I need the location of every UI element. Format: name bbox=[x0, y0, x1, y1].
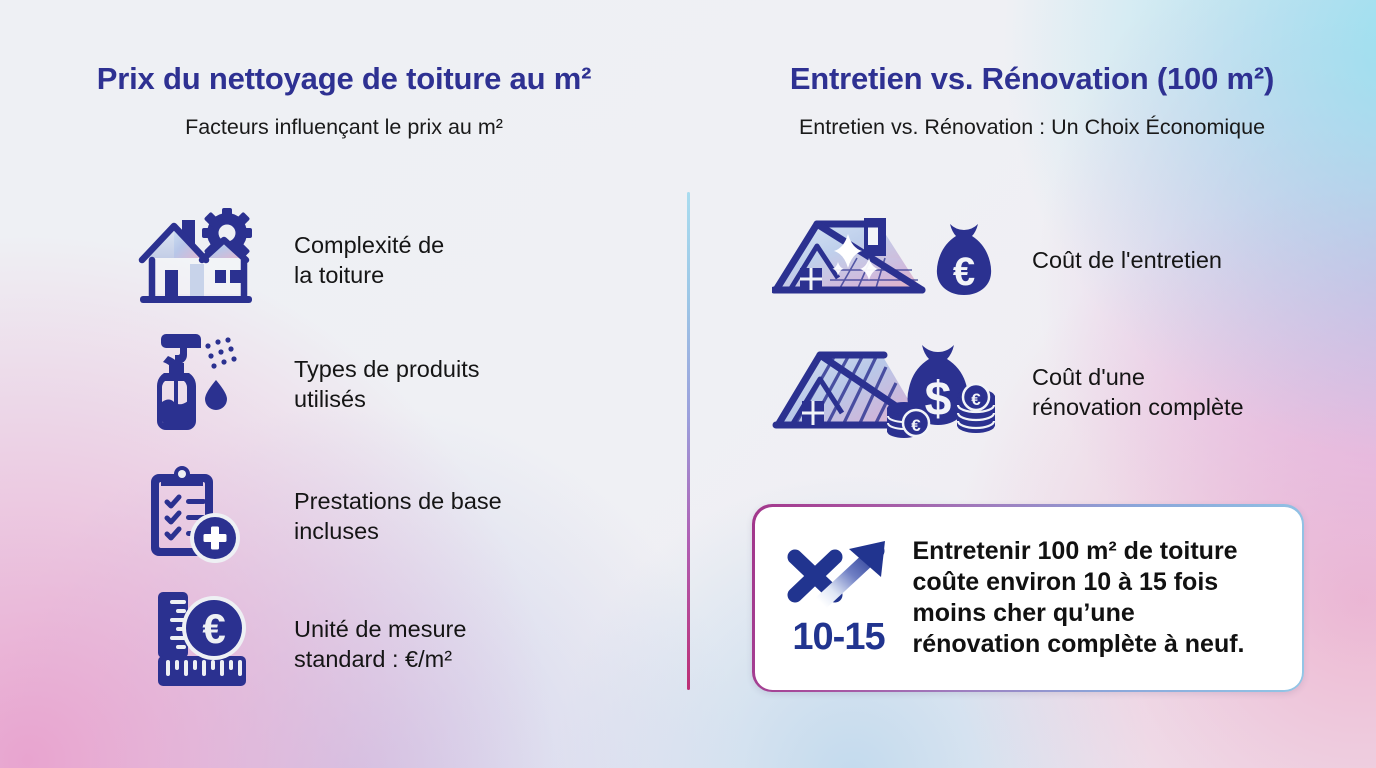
right-feature-row-0: € Coût de l'entretien bbox=[772, 206, 1332, 314]
left-feature-label-3: Unité de mesure standard : €/m² bbox=[294, 614, 466, 674]
svg-text:€: € bbox=[911, 416, 921, 435]
house-gear-icon bbox=[138, 206, 266, 315]
ruler-euro-icon: € bbox=[138, 590, 266, 699]
left-feature-row-2: Prestations de base incluses bbox=[138, 462, 658, 570]
left-feature-label-1: Types de produits utilisés bbox=[294, 354, 480, 414]
spray-bottle-icon bbox=[138, 330, 266, 439]
multiply-arrow-up-icon bbox=[781, 600, 897, 617]
left-feature-row-3: € Unité de mesure standard : €/m² bbox=[138, 590, 658, 698]
svg-text:€: € bbox=[202, 605, 225, 652]
left-column-title: Prix du nettoyage de toiture au m² bbox=[0, 62, 688, 96]
callout-card-inner: 10-15 Entretenir 100 m² de toiture coûte… bbox=[755, 507, 1302, 690]
callout-text: Entretenir 100 m² de toiture coûte envir… bbox=[913, 536, 1245, 660]
left-feature-label-2: Prestations de base incluses bbox=[294, 486, 502, 546]
callout-badge: 10-15 bbox=[779, 537, 899, 659]
right-feature-label-0: Coût de l'entretien bbox=[1032, 245, 1222, 275]
left-column: Prix du nettoyage de toiture au m² Facte… bbox=[0, 0, 688, 768]
callout-card: 10-15 Entretenir 100 m² de toiture coûte… bbox=[752, 504, 1304, 692]
right-column-title: Entretien vs. Rénovation (100 m²) bbox=[688, 62, 1376, 96]
svg-text:€: € bbox=[971, 390, 981, 409]
clipboard-plus-icon bbox=[138, 462, 266, 571]
left-feature-row-1: Types de produits utilisés bbox=[138, 330, 658, 438]
roof-money-bag-coins-icon: $ € bbox=[772, 335, 1002, 450]
infographic-slide: Prix du nettoyage de toiture au m² Facte… bbox=[0, 0, 1376, 768]
svg-text:€: € bbox=[953, 250, 975, 294]
left-column-subtitle: Facteurs influençant le prix au m² bbox=[0, 115, 688, 141]
right-feature-row-1: $ € bbox=[772, 338, 1332, 446]
left-feature-row-0: Complexité de la toiture bbox=[138, 206, 658, 314]
left-feature-label-0: Complexité de la toiture bbox=[294, 230, 444, 290]
right-feature-label-1: Coût d'une rénovation complète bbox=[1032, 362, 1244, 422]
right-column-subtitle: Entretien vs. Rénovation : Un Choix Écon… bbox=[688, 115, 1376, 141]
clean-roof-money-bag-euro-icon: € bbox=[772, 206, 1002, 315]
callout-badge-label: 10-15 bbox=[779, 616, 899, 659]
